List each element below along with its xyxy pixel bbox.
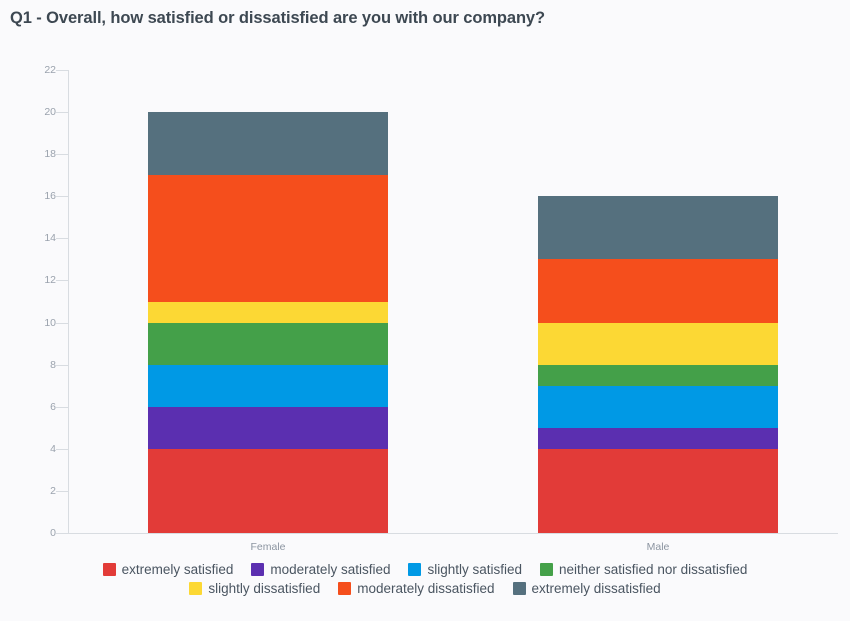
bar-segment[interactable] <box>148 302 388 323</box>
y-axis-tick-label: 18 <box>10 148 56 160</box>
y-axis-tick <box>56 365 68 366</box>
y-axis-tick-label: 4 <box>10 443 56 455</box>
y-axis-tick <box>56 491 68 492</box>
y-axis-tick-label: 22 <box>10 64 56 76</box>
stacked-bar[interactable] <box>538 196 778 533</box>
bar-segment[interactable] <box>538 449 778 533</box>
legend-item[interactable]: moderately satisfied <box>251 562 390 577</box>
stacked-bar[interactable] <box>148 112 388 533</box>
legend-item-label: extremely satisfied <box>122 562 234 577</box>
legend-swatch-icon <box>338 582 351 595</box>
y-axis-tick <box>56 323 68 324</box>
y-axis-tick-label: 2 <box>10 485 56 497</box>
legend-item-label: slightly satisfied <box>427 562 522 577</box>
y-axis-tick-label: 14 <box>10 232 56 244</box>
y-axis-tick-label: 12 <box>10 274 56 286</box>
y-axis-tick-label: 8 <box>10 359 56 371</box>
plot-area: 0246810121416182022 FemaleMale <box>68 70 838 533</box>
legend-row: extremely satisfiedmoderately satisfieds… <box>103 562 748 577</box>
y-axis-tick <box>56 449 68 450</box>
legend-item-label: neither satisfied nor dissatisfied <box>559 562 747 577</box>
legend-swatch-icon <box>408 563 421 576</box>
legend-swatch-icon <box>251 563 264 576</box>
y-axis-tick <box>56 70 68 71</box>
legend-item[interactable]: extremely dissatisfied <box>513 581 661 596</box>
legend-item[interactable]: moderately dissatisfied <box>338 581 494 596</box>
y-axis-tick <box>56 280 68 281</box>
y-axis-tick <box>56 154 68 155</box>
bar-segment[interactable] <box>538 259 778 322</box>
bar-segment[interactable] <box>538 196 778 259</box>
bar-segment[interactable] <box>148 407 388 449</box>
bar-segment[interactable] <box>148 449 388 533</box>
y-axis-tick <box>56 196 68 197</box>
y-axis-tick <box>56 112 68 113</box>
chart-legend: extremely satisfiedmoderately satisfieds… <box>0 562 850 596</box>
legend-swatch-icon <box>189 582 202 595</box>
bar-segment[interactable] <box>148 112 388 175</box>
x-axis-line <box>68 533 838 534</box>
bar-segment[interactable] <box>148 175 388 301</box>
y-axis-tick-label: 6 <box>10 401 56 413</box>
legend-item-label: moderately satisfied <box>270 562 390 577</box>
legend-swatch-icon <box>513 582 526 595</box>
y-axis-tick-label: 10 <box>10 317 56 329</box>
bar-segment[interactable] <box>538 386 778 428</box>
legend-item[interactable]: neither satisfied nor dissatisfied <box>540 562 747 577</box>
legend-item[interactable]: extremely satisfied <box>103 562 234 577</box>
legend-item-label: slightly dissatisfied <box>208 581 320 596</box>
bar-group[interactable] <box>148 70 388 533</box>
bar-group[interactable] <box>538 70 778 533</box>
y-axis-tick-label: 20 <box>10 106 56 118</box>
y-axis-tick <box>56 238 68 239</box>
bar-segment[interactable] <box>538 428 778 449</box>
bar-segment[interactable] <box>538 365 778 386</box>
x-axis-tick-label: Female <box>148 541 388 553</box>
legend-item-label: extremely dissatisfied <box>532 581 661 596</box>
legend-swatch-icon <box>103 563 116 576</box>
chart-page: Q1 - Overall, how satisfied or dissatisf… <box>0 0 850 621</box>
y-axis-tick-labels: 0246810121416182022 <box>8 70 56 533</box>
legend-item[interactable]: slightly dissatisfied <box>189 581 320 596</box>
legend-swatch-icon <box>540 563 553 576</box>
bar-segment[interactable] <box>148 323 388 365</box>
legend-row: slightly dissatisfiedmoderately dissatis… <box>189 581 660 596</box>
legend-item-label: moderately dissatisfied <box>357 581 494 596</box>
legend-item[interactable]: slightly satisfied <box>408 562 522 577</box>
x-axis-tick-label: Male <box>538 541 778 553</box>
y-axis-tick-label: 0 <box>10 527 56 539</box>
page-title: Q1 - Overall, how satisfied or dissatisf… <box>10 9 545 28</box>
y-axis-tick-label: 16 <box>10 190 56 202</box>
bar-segment[interactable] <box>148 365 388 407</box>
y-axis-line <box>68 70 69 533</box>
y-axis-tick <box>56 407 68 408</box>
y-axis-tick <box>56 533 68 534</box>
bar-segment[interactable] <box>538 323 778 365</box>
